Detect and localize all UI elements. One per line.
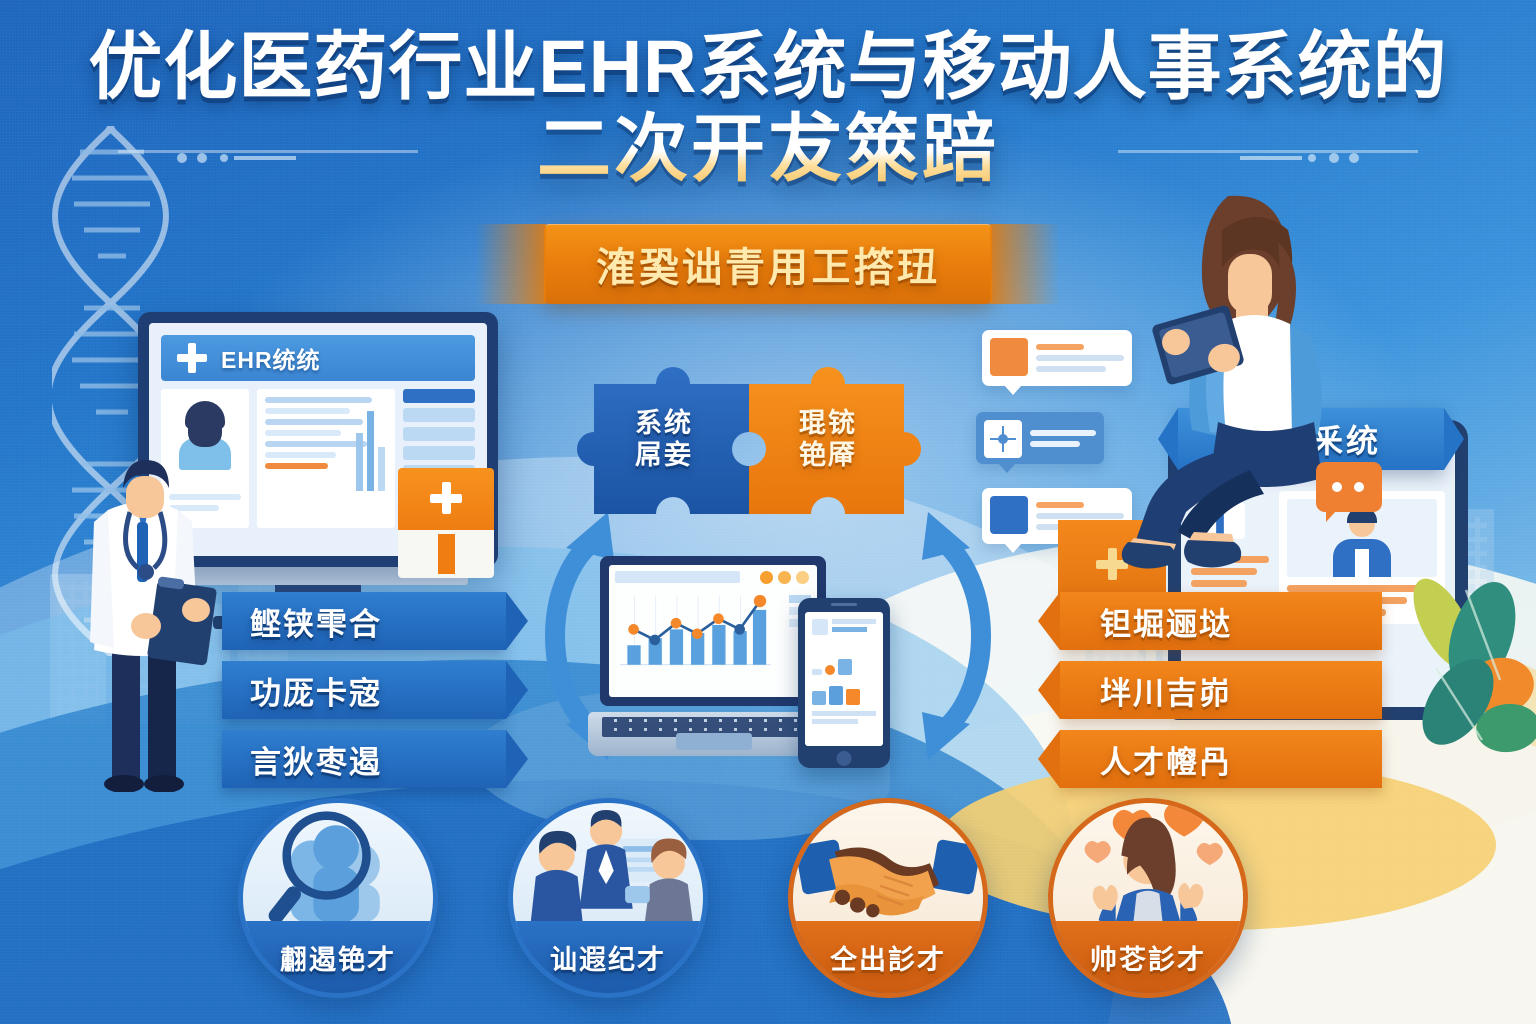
list-item-label: 坢川吉峁: [1100, 668, 1232, 713]
puzzle-pair: [584, 374, 914, 524]
handshake-icon: [793, 803, 983, 931]
flow-step-4[interactable]: 帅芲䚲才: [1048, 798, 1248, 998]
leaf-icon: [1396, 572, 1536, 772]
list-item[interactable]: 坢川吉峁: [1060, 661, 1382, 719]
phone-screen: [805, 612, 883, 746]
list-item: [403, 389, 475, 403]
ehr-system-label: EHR统统: [221, 341, 321, 375]
flow-step-label: 仝出䚲才: [830, 938, 946, 977]
list-item-label: 人才㡧冎: [1100, 737, 1232, 782]
flow-step-label: 帅芲䚲才: [1090, 938, 1206, 977]
list-item-label: 言狄枣遏: [250, 737, 382, 782]
avatar: [990, 338, 1028, 376]
first-aid-kit-icon: [398, 468, 494, 578]
list-item: [403, 408, 475, 422]
network-icon: [984, 420, 1022, 458]
list-item[interactable]: 功厐卡宼: [222, 661, 506, 719]
medical-cross-icon: [177, 343, 207, 373]
subtitle-text: 㴶㠫诎青用㠪撘㺲: [596, 235, 940, 293]
flow-step-2[interactable]: 讪遐纪才: [508, 798, 708, 998]
list-item[interactable]: 人才㡧冎: [1060, 730, 1382, 788]
meeting-presentation-icon: [513, 803, 703, 931]
list-item[interactable]: 鲣铗雫合: [222, 592, 506, 650]
hr-feature-list: 钽堀逦垯 坢川吉峁 人才㡧冎: [1060, 592, 1382, 799]
list-item-label: 钽堀逦垯: [1100, 599, 1232, 644]
dashboard-chart: [615, 589, 783, 675]
flow-step-label: 讪遐纪才: [550, 938, 666, 977]
list-item[interactable]: 钽堀逦垯: [1060, 592, 1382, 650]
laptop-screen: [609, 565, 817, 697]
ehr-header-bar: EHR统统: [161, 335, 475, 381]
infographic-poster: 优化医药行业EHR系统与移动人事系统的 二次开犮箂踣 㴶㠫诎青用㠪撘㺲 EHR统…: [0, 0, 1536, 1024]
happy-person-hearts-icon: [1053, 803, 1243, 931]
list-item: [403, 427, 475, 441]
subtitle-banner: 㴶㠫诎青用㠪撘㺲: [544, 224, 992, 304]
list-item-label: 鲣铗雫合: [250, 599, 382, 644]
laptop-lid: [600, 556, 826, 706]
magnifier-people-icon: [243, 803, 433, 931]
title-line-2: 二次开犮箂踣: [537, 110, 999, 188]
list-item[interactable]: 言狄枣遏: [222, 730, 506, 788]
process-flow: 䎘遏铯才: [0, 798, 1536, 1008]
flow-step-1[interactable]: 䎘遏铯才: [238, 798, 438, 998]
title-line-1: 优化医药行业EHR系统与移动人事系统的: [0, 28, 1536, 106]
smartphone-icon: [798, 598, 890, 768]
title-block: 优化医药行业EHR系统与移动人事系统的 二次开犮箂踣: [0, 28, 1536, 189]
list-item: [403, 446, 475, 460]
patient-record-card: [257, 389, 395, 528]
flow-step-label-wrap: 䎘遏铯才: [243, 921, 433, 993]
chat-bubble-card[interactable]: [976, 412, 1104, 464]
ehr-feature-list: 鲣铗雫合 功厐卡宼 言狄枣遏: [222, 592, 506, 799]
flow-step-3[interactable]: 仝出䚲才: [788, 798, 988, 998]
sync-arrow-right-icon: [904, 506, 1014, 766]
chat-bubble-icon: [1316, 462, 1382, 512]
list-item-label: 功厐卡宼: [250, 668, 382, 713]
laptop-trackpad: [676, 733, 752, 750]
doctor-avatar-icon: [68, 392, 218, 792]
flow-step-label: 䎘遏铯才: [280, 938, 396, 977]
